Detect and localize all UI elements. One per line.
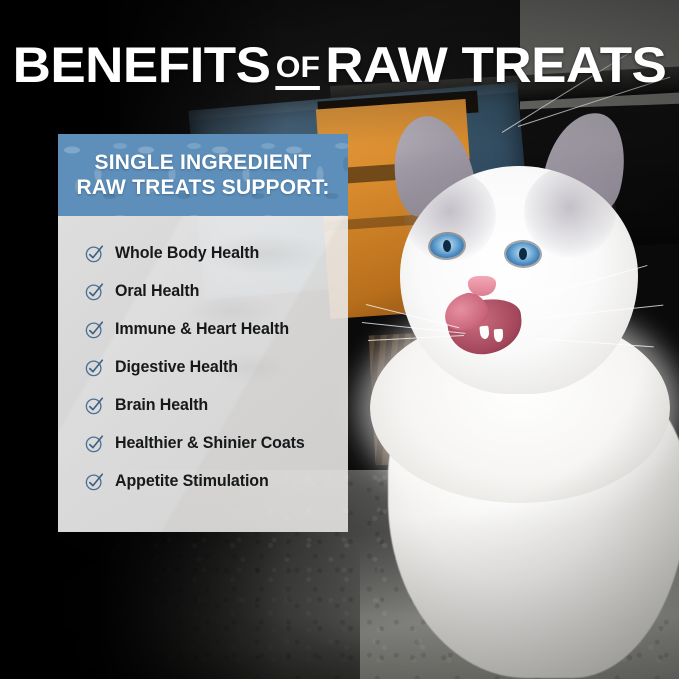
benefit-label: Digestive Health [115, 358, 238, 377]
list-item: Immune & Heart Health [85, 310, 348, 348]
heading-line-2: RAW TREATS SUPPORT: [76, 175, 329, 200]
benefits-card-header: SINGLE INGREDIENT RAW TREATS SUPPORT: [58, 134, 348, 216]
check-circle-icon [85, 358, 104, 377]
benefit-label: Healthier & Shinier Coats [115, 434, 305, 453]
benefits-list: Whole Body Health Oral Health Immune & H… [58, 216, 348, 532]
benefit-label: Appetite Stimulation [115, 472, 269, 491]
benefit-label: Brain Health [115, 396, 208, 415]
benefit-label: Immune & Heart Health [115, 320, 289, 339]
title-part-1: BENEFITS [13, 40, 271, 90]
list-item: Whole Body Health [85, 234, 348, 272]
benefit-label: Whole Body Health [115, 244, 259, 263]
heading-line-1: SINGLE INGREDIENT [76, 150, 329, 175]
check-circle-icon [85, 244, 104, 263]
list-item: Appetite Stimulation [85, 462, 348, 500]
list-item: Oral Health [85, 272, 348, 310]
page-title: BENEFITSOFRAW TREATS [0, 40, 679, 98]
list-item: Digestive Health [85, 348, 348, 386]
benefit-label: Oral Health [115, 282, 199, 301]
benefits-card-heading: SINGLE INGREDIENT RAW TREATS SUPPORT: [66, 150, 339, 200]
list-item: Brain Health [85, 386, 348, 424]
check-circle-icon [85, 434, 104, 453]
check-circle-icon [85, 396, 104, 415]
list-item: Healthier & Shinier Coats [85, 424, 348, 462]
check-circle-icon [85, 320, 104, 339]
title-connector: OF [276, 51, 320, 90]
check-circle-icon [85, 282, 104, 301]
check-circle-icon [85, 472, 104, 491]
benefits-card: SINGLE INGREDIENT RAW TREATS SUPPORT: Wh… [58, 134, 348, 532]
title-part-2: RAW TREATS [325, 40, 666, 90]
